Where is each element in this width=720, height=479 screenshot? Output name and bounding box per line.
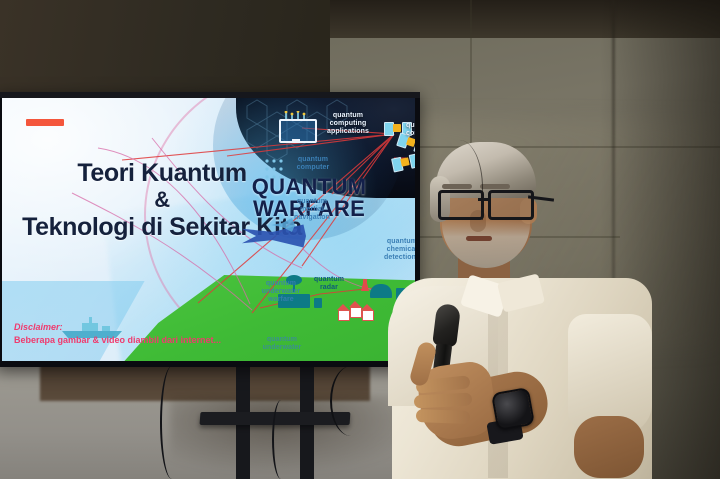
television: Teori Kuantum & Teknologi di Sekitar Kit…: [0, 92, 420, 367]
lens-right: [488, 190, 534, 220]
slide-accent-bar: [26, 119, 64, 126]
house-icon-3: [362, 310, 374, 321]
photo-scene: Teori Kuantum & Teknologi di Sekitar Kit…: [0, 0, 720, 479]
microphone-head: [432, 303, 461, 348]
label-quantum-underwater-warfare: quantum underwater warfare: [250, 280, 312, 303]
house-roof-3: [361, 304, 373, 310]
beard: [442, 220, 530, 268]
monitor-stand: [292, 139, 300, 143]
computer-monitor-icon: [279, 115, 313, 140]
house-roof-2: [349, 301, 361, 307]
disclaimer-text: Beberapa gambar & video diambil dari int…: [14, 334, 221, 347]
tv-screen: Teori Kuantum & Teknologi di Sekitar Kit…: [2, 98, 415, 361]
building-icon-2: [314, 298, 322, 308]
eyebrow-right: [480, 184, 510, 189]
qubit-dots-icon: [264, 158, 286, 184]
mouth: [466, 236, 492, 241]
forearm-right: [574, 416, 644, 478]
slide-disclaimer: Disclaimer: Beberapa gambar & video diam…: [14, 321, 221, 347]
wristwatch: [491, 387, 535, 431]
label-quantum-computing-applications: quantum computing applications: [314, 112, 382, 135]
finger-3: [416, 409, 470, 424]
house-icon-1: [338, 310, 350, 321]
house-roof-1: [337, 304, 349, 310]
fighter-jet-icon: [270, 216, 298, 234]
cable-right: [330, 366, 372, 436]
cable-left: [160, 366, 184, 479]
chemical-flask-icon: [360, 278, 370, 292]
label-quantum-underwater-lower: quantum underwater: [254, 336, 310, 352]
diagram-heading-line-1: QUANTUM: [224, 176, 394, 198]
disclaimer-heading: Disclaimer:: [14, 321, 221, 334]
presentation-slide: Teori Kuantum & Teknologi di Sekitar Kit…: [2, 98, 415, 361]
cable-center: [272, 400, 290, 479]
speaker: [392, 128, 652, 479]
building-icon-3: [370, 284, 392, 298]
label-quantum-computer: quantum computer: [286, 156, 340, 172]
